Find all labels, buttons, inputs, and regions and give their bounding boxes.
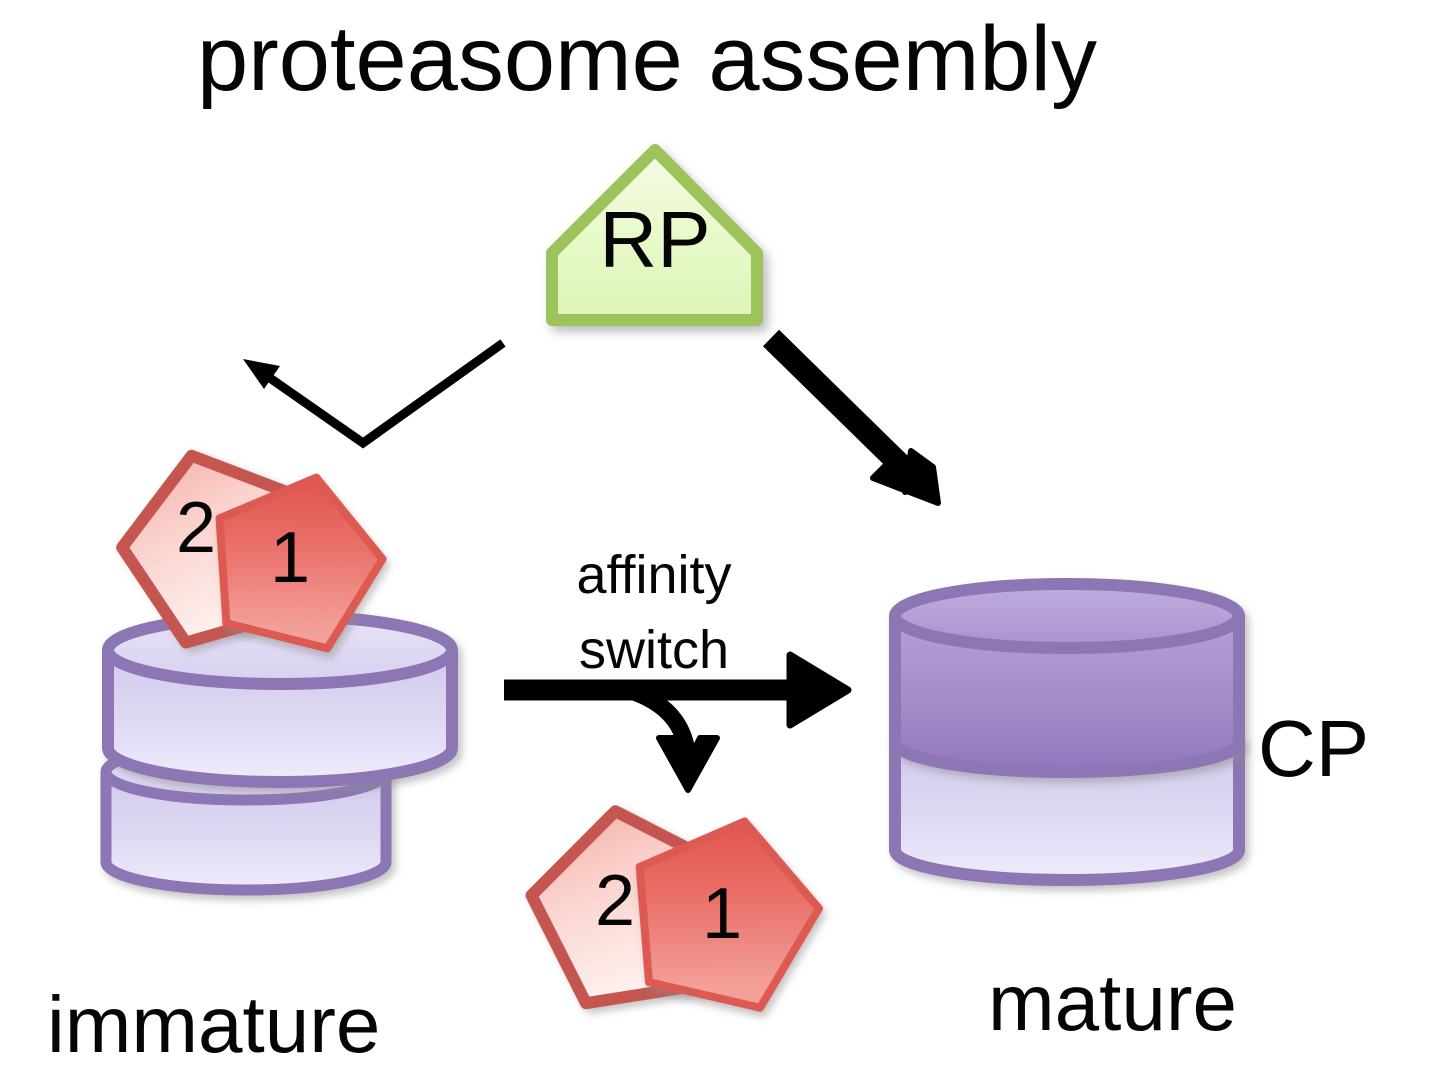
mature-top-face — [895, 584, 1239, 648]
immature-cp-upper-ring — [108, 616, 452, 782]
cp-label: CP — [1258, 704, 1369, 793]
mature-cp — [895, 584, 1239, 880]
proteasome-assembly-figure: proteasome assembly RP — [0, 0, 1440, 1081]
chaperone-attached-1-label: 1 — [270, 518, 310, 598]
mature-cp-upper-ring — [895, 584, 1239, 772]
chaperone-released-2-label: 2 — [595, 861, 635, 941]
arrow-rp-to-immature — [243, 343, 503, 443]
immature-cp — [106, 616, 452, 890]
mature-label: mature — [988, 958, 1237, 1047]
page-title: proteasome assembly — [197, 8, 1097, 110]
chaperone-released-1-label: 1 — [702, 874, 742, 954]
affinity-switch-line2: switch — [579, 620, 729, 680]
chaperone-attached-2-label: 2 — [176, 488, 216, 568]
rp-label: RP — [599, 195, 710, 284]
affinity-switch-line1: affinity — [576, 545, 731, 605]
arrow-chaperone-release — [634, 692, 717, 790]
arrow-rp-to-mature — [771, 338, 938, 503]
immature-label: immature — [47, 980, 380, 1069]
diagram-canvas: proteasome assembly RP — [0, 0, 1440, 1081]
